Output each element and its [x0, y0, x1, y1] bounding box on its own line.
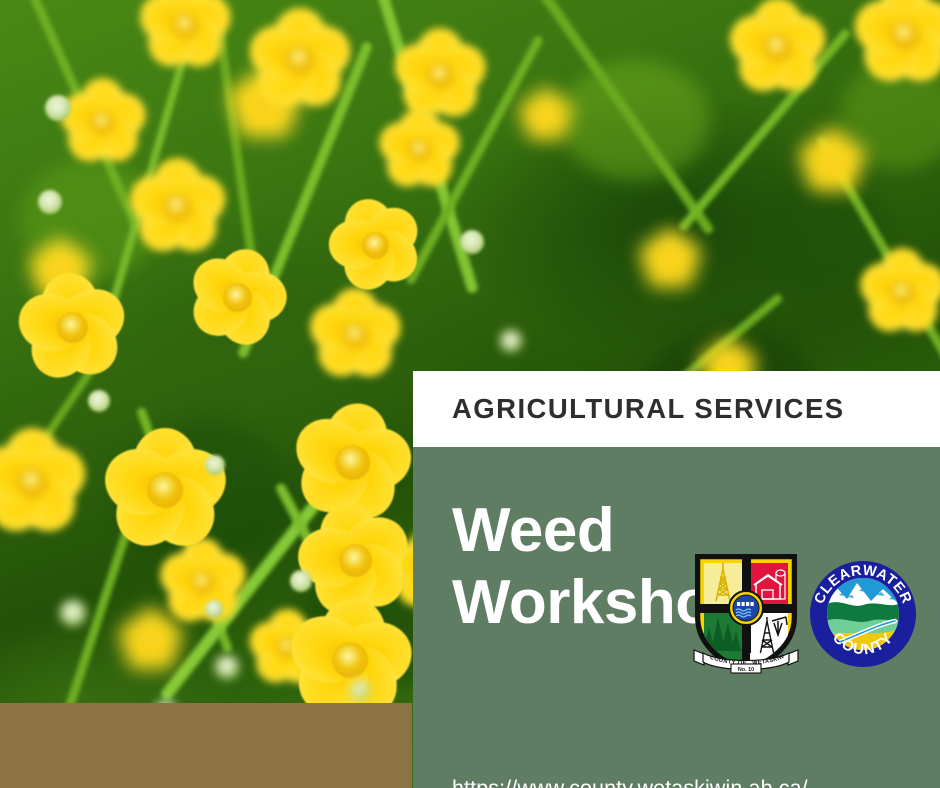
- buttercup-flower: [290, 600, 410, 720]
- flower-bud: [290, 570, 312, 592]
- buttercup-flower: [140, 0, 230, 70]
- wetaskiwin-crest-label: County of Wetaskiwin No. 10 crest: [802, 551, 803, 552]
- brown-footer-bar: [0, 703, 412, 788]
- wetaskiwin-crest-logo: COUNTY OF WETASKIWIN No. 10: [690, 551, 802, 676]
- buttercup-flower: [60, 80, 145, 165]
- flower-bud: [205, 455, 225, 475]
- flower-bud: [205, 600, 223, 618]
- flower-bud: [88, 390, 110, 412]
- buttercup-flower: [0, 430, 85, 535]
- buttercup-flower: [20, 275, 125, 380]
- buttercup-flower: [855, 0, 940, 85]
- panel-header-band: AGRICULTURAL SERVICES: [413, 371, 940, 447]
- buttercup-flower: [130, 160, 225, 255]
- panel-body: Weed Workshop: [413, 447, 940, 788]
- clearwater-county-logo: CLEARWATER COUNTY Clearwater County roun…: [803, 559, 923, 669]
- poster-canvas: AGRICULTURAL SERVICES Weed Workshop: [0, 0, 940, 788]
- flower-bud: [60, 600, 86, 626]
- flower-bud: [45, 95, 71, 121]
- crest-banner-number: No. 10: [738, 667, 754, 673]
- flower-bud: [350, 680, 370, 700]
- buttercup-flower: [730, 0, 825, 95]
- buttercup-flower: [160, 540, 245, 625]
- logo-group: COUNTY OF WETASKIWIN No. 10: [690, 551, 930, 676]
- department-headline: AGRICULTURAL SERVICES: [452, 393, 845, 425]
- buttercup-flower: [250, 10, 350, 110]
- buttercup-flower: [395, 30, 485, 120]
- buttercup-flower: [380, 110, 460, 190]
- buttercup-flower: [860, 250, 940, 335]
- flower-bud: [38, 190, 62, 214]
- buttercup-flower: [105, 430, 225, 550]
- buttercup-flower: [295, 405, 410, 520]
- content-panel: AGRICULTURAL SERVICES Weed Workshop: [413, 371, 940, 788]
- buttercup-flower: [520, 90, 572, 142]
- buttercup-flower: [330, 200, 420, 290]
- website-url[interactable]: https://www.county.wetaskiwin.ab.ca/ 172…: [452, 773, 907, 788]
- clearwater-logo-label: Clearwater County roundel: [923, 559, 924, 560]
- website-url-line-1: https://www.county.wetaskiwin.ab.ca/: [452, 773, 907, 788]
- buttercup-flower: [310, 290, 400, 380]
- flower-bud: [460, 230, 484, 254]
- flower-bud: [500, 330, 522, 352]
- flower-bud: [215, 655, 239, 679]
- buttercup-flower: [190, 250, 285, 345]
- buttercup-flower: [640, 230, 700, 290]
- buttercup-flower: [800, 130, 864, 194]
